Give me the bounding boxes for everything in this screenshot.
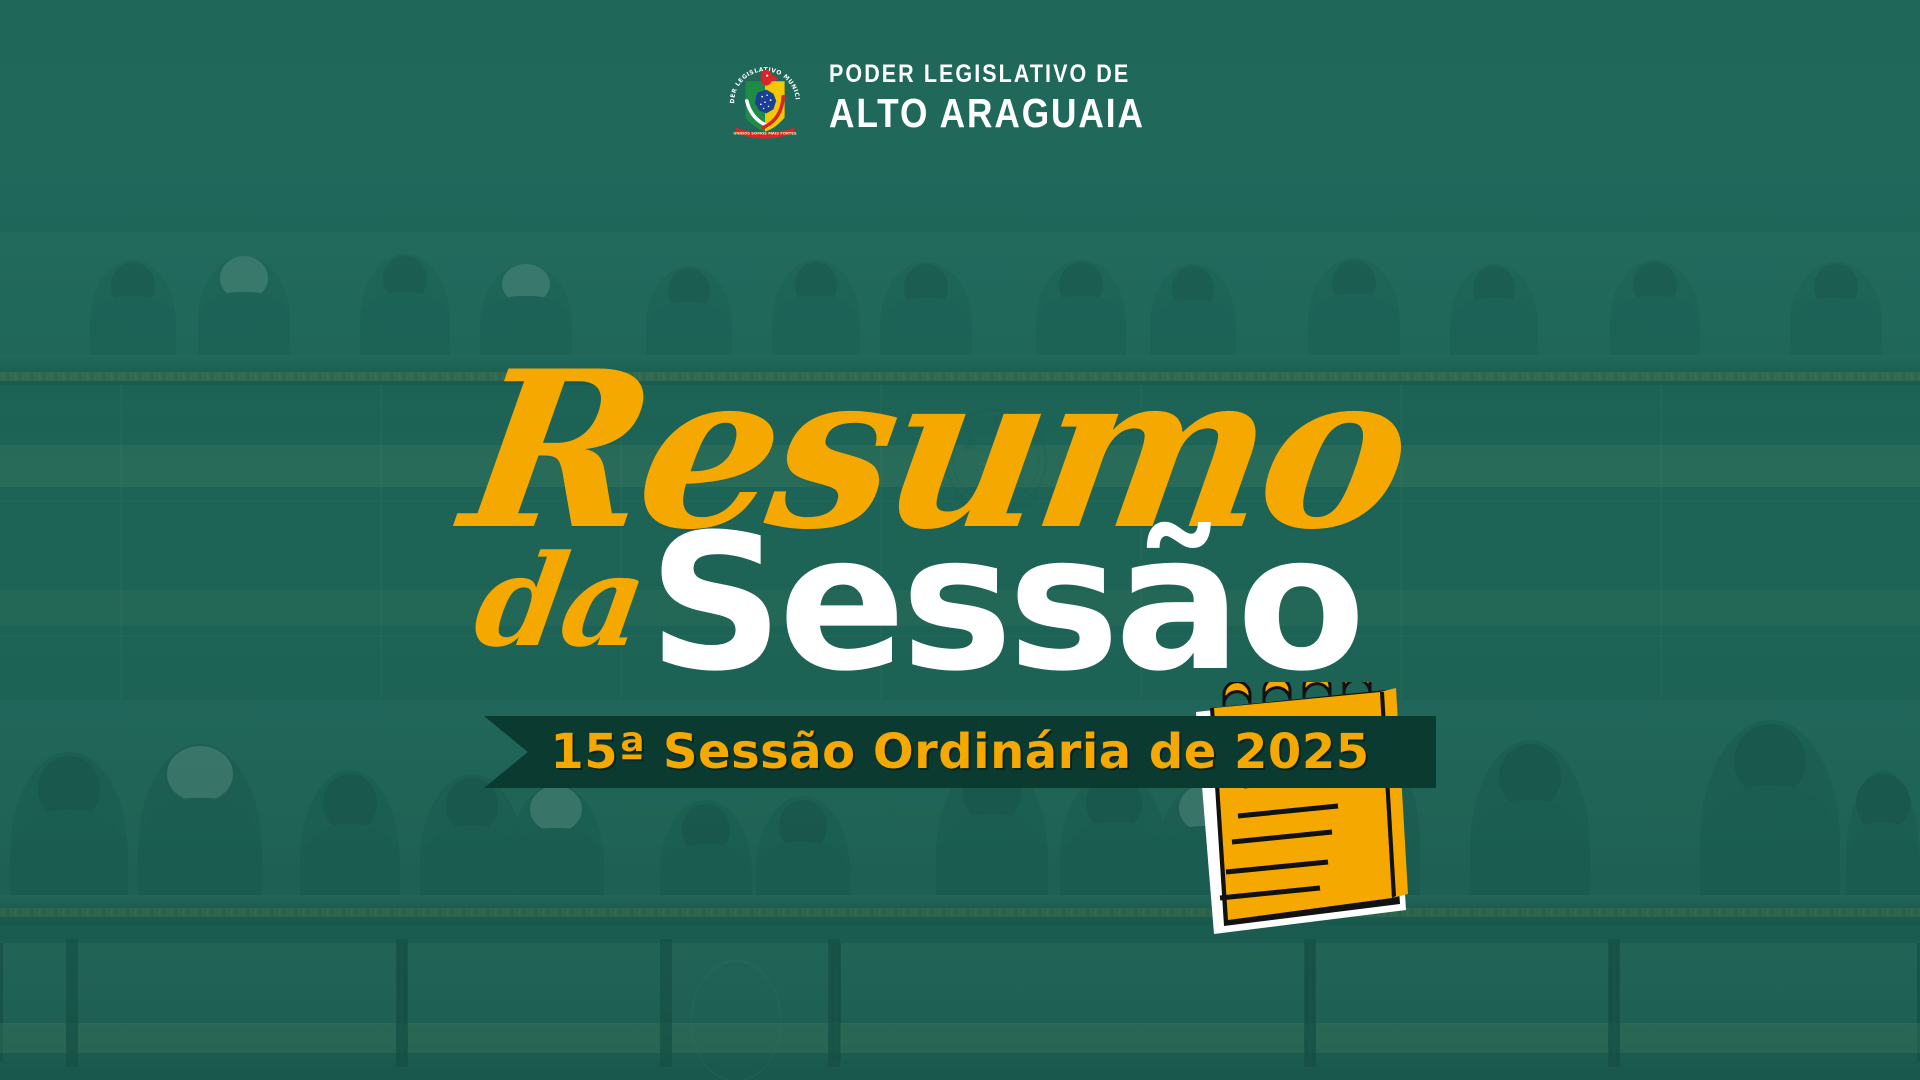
brand-line-2: ALTO ARAGUAIA <box>829 93 1145 134</box>
poster-canvas: PODER LEGISLATIVO MUNICIPAL <box>0 0 1920 1080</box>
title-script-da: da <box>468 538 652 664</box>
emblem-motto-text: UNIDOS SOMOS MAIS FORTES <box>734 130 798 135</box>
ribbon-label: 15ª Sessão Ordinária de 2025 <box>550 724 1369 780</box>
alto-araguaia-coat-of-arms-icon: PODER LEGISLATIVO MUNICIPAL <box>723 56 807 140</box>
ribbon-inner-shape: 15ª Sessão Ordinária de 2025 <box>484 716 1436 788</box>
title-main-sessao: Sessão <box>648 510 1361 698</box>
brand-line-1: PODER LEGISLATIVO DE <box>829 62 1145 87</box>
brand-header: PODER LEGISLATIVO MUNICIPAL <box>0 56 1920 140</box>
session-ribbon-banner: 15ª Sessão Ordinária de 2025 <box>484 716 1436 788</box>
brand-text-block: PODER LEGISLATIVO DE ALTO ARAGUAIA <box>829 62 1196 134</box>
